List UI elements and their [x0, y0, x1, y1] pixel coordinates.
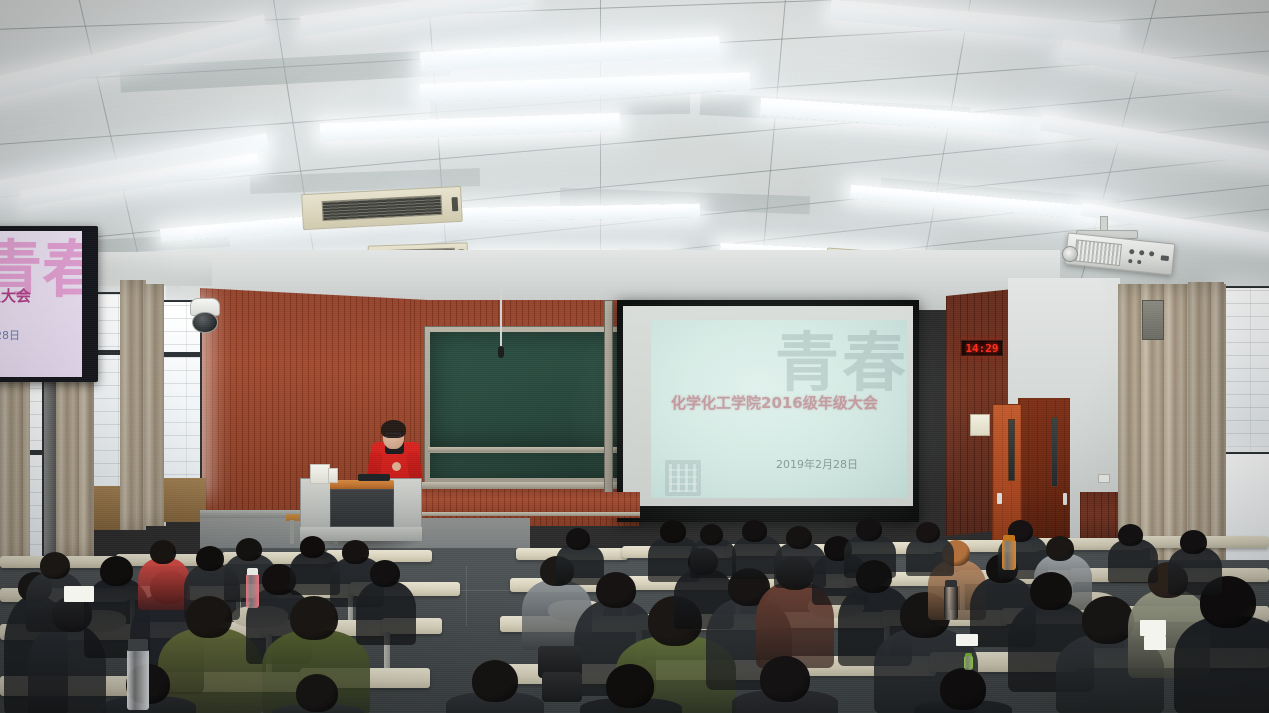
student-head: [760, 656, 810, 702]
student-head: [1180, 530, 1207, 554]
backpack: [542, 672, 582, 702]
slide-date-text: 2019年2月28日: [776, 456, 858, 472]
silver-thermos: [127, 650, 149, 710]
pink-water-bottle-cap: [247, 568, 258, 575]
handout-paper: [956, 634, 978, 646]
orange-bottle-cap: [1003, 535, 1015, 541]
student-body: [26, 572, 84, 632]
student-head: [940, 668, 986, 710]
presenter-glasses: [386, 433, 401, 437]
student-head: [742, 520, 767, 542]
student-head: [472, 660, 518, 702]
window-curtain: [120, 280, 146, 530]
handout-paper: [64, 586, 94, 602]
black-thermos: [944, 586, 958, 620]
student-head: [1030, 572, 1072, 610]
main-projection-screen: 青春 化学化工学院2016级年级大会 2019年2月28日: [617, 300, 919, 522]
monitor-title-fragment: 级大会: [0, 285, 31, 306]
table-leg: [290, 520, 294, 544]
floor-tile-seam: [466, 566, 467, 626]
silver-thermos-cap: [128, 639, 148, 651]
monitor-display: 青春 级大会 月28日: [0, 231, 82, 377]
lecture-hall-photo: 青春 化学化工学院2016级年级大会 2019年2月28日 青春 级大会 月28…: [0, 0, 1269, 713]
student-head: [700, 524, 723, 545]
student-head: [606, 664, 654, 708]
left-wall-upper: [92, 252, 212, 286]
lectern-papers: [328, 468, 338, 483]
green-marker: [964, 656, 973, 670]
student-head: [370, 560, 400, 587]
pink-water-bottle: [246, 574, 259, 608]
blackboard-side-rail: [604, 300, 613, 500]
student-head: [150, 540, 176, 564]
ceiling-projector: [1065, 232, 1176, 275]
classroom-window: [1222, 286, 1269, 462]
lectern-microphone: [358, 474, 390, 481]
slide-title-text: 化学化工学院2016级年级大会: [671, 392, 878, 413]
student-body: [356, 581, 416, 645]
fluorescent-ceiling-light: [1040, 115, 1269, 170]
student-head: [1118, 524, 1143, 546]
wall-speaker: [1142, 300, 1164, 340]
handout-paper: [1144, 636, 1166, 650]
student-head: [296, 674, 338, 712]
ceiling-ac-vent: [301, 186, 463, 230]
green-marker-cap: [965, 653, 972, 656]
student-body: [1174, 616, 1269, 713]
window-curtain: [144, 284, 164, 526]
handout-paper: [1140, 620, 1166, 636]
student-head: [566, 528, 590, 550]
green-blackboard: [424, 326, 632, 484]
student-body: [138, 558, 190, 610]
lectern-front-panel: [330, 489, 394, 527]
lectern-papers: [310, 464, 330, 484]
digital-wall-clock: 14:29: [961, 340, 1003, 356]
presenter-hand: [392, 462, 401, 471]
student-head: [100, 556, 133, 586]
student-head: [856, 518, 882, 541]
clock-time-text: 14:29: [965, 342, 998, 355]
light-switch: [1098, 474, 1110, 483]
projector-lens: [1062, 246, 1078, 262]
student-head: [786, 526, 812, 549]
student-head: [40, 552, 70, 579]
student-head: [186, 596, 232, 638]
window-sill: [158, 478, 206, 522]
student-head: [196, 546, 224, 571]
college-seal-stamp: [665, 460, 701, 496]
black-thermos-cap: [945, 580, 957, 587]
student-head: [342, 540, 369, 564]
hanging-microphone: [498, 346, 504, 358]
baseboard-trim: [414, 512, 640, 516]
student-head: [236, 538, 262, 561]
student-body: [1168, 547, 1222, 595]
student-head: [1046, 536, 1074, 561]
student-head: [300, 536, 325, 558]
orange-bottle: [1002, 540, 1016, 570]
student-head: [916, 522, 940, 543]
left-wall-monitor: 青春 级大会 月28日: [0, 226, 98, 382]
projected-slide: 青春 化学化工学院2016级年级大会 2019年2月28日: [651, 320, 907, 498]
wall-notice-sign: [970, 414, 990, 436]
student-head: [660, 520, 686, 543]
fluorescent-ceiling-light: [830, 0, 1121, 45]
dome-security-camera: [190, 298, 220, 332]
student-head: [596, 572, 636, 608]
student-head: [856, 560, 892, 593]
hanging-microphone-wire: [500, 284, 502, 348]
fluorescent-ceiling-light: [300, 0, 531, 36]
fluorescent-ceiling-light: [420, 36, 721, 72]
student-head: [1082, 596, 1134, 644]
monitor-date-fragment: 月28日: [0, 327, 20, 343]
